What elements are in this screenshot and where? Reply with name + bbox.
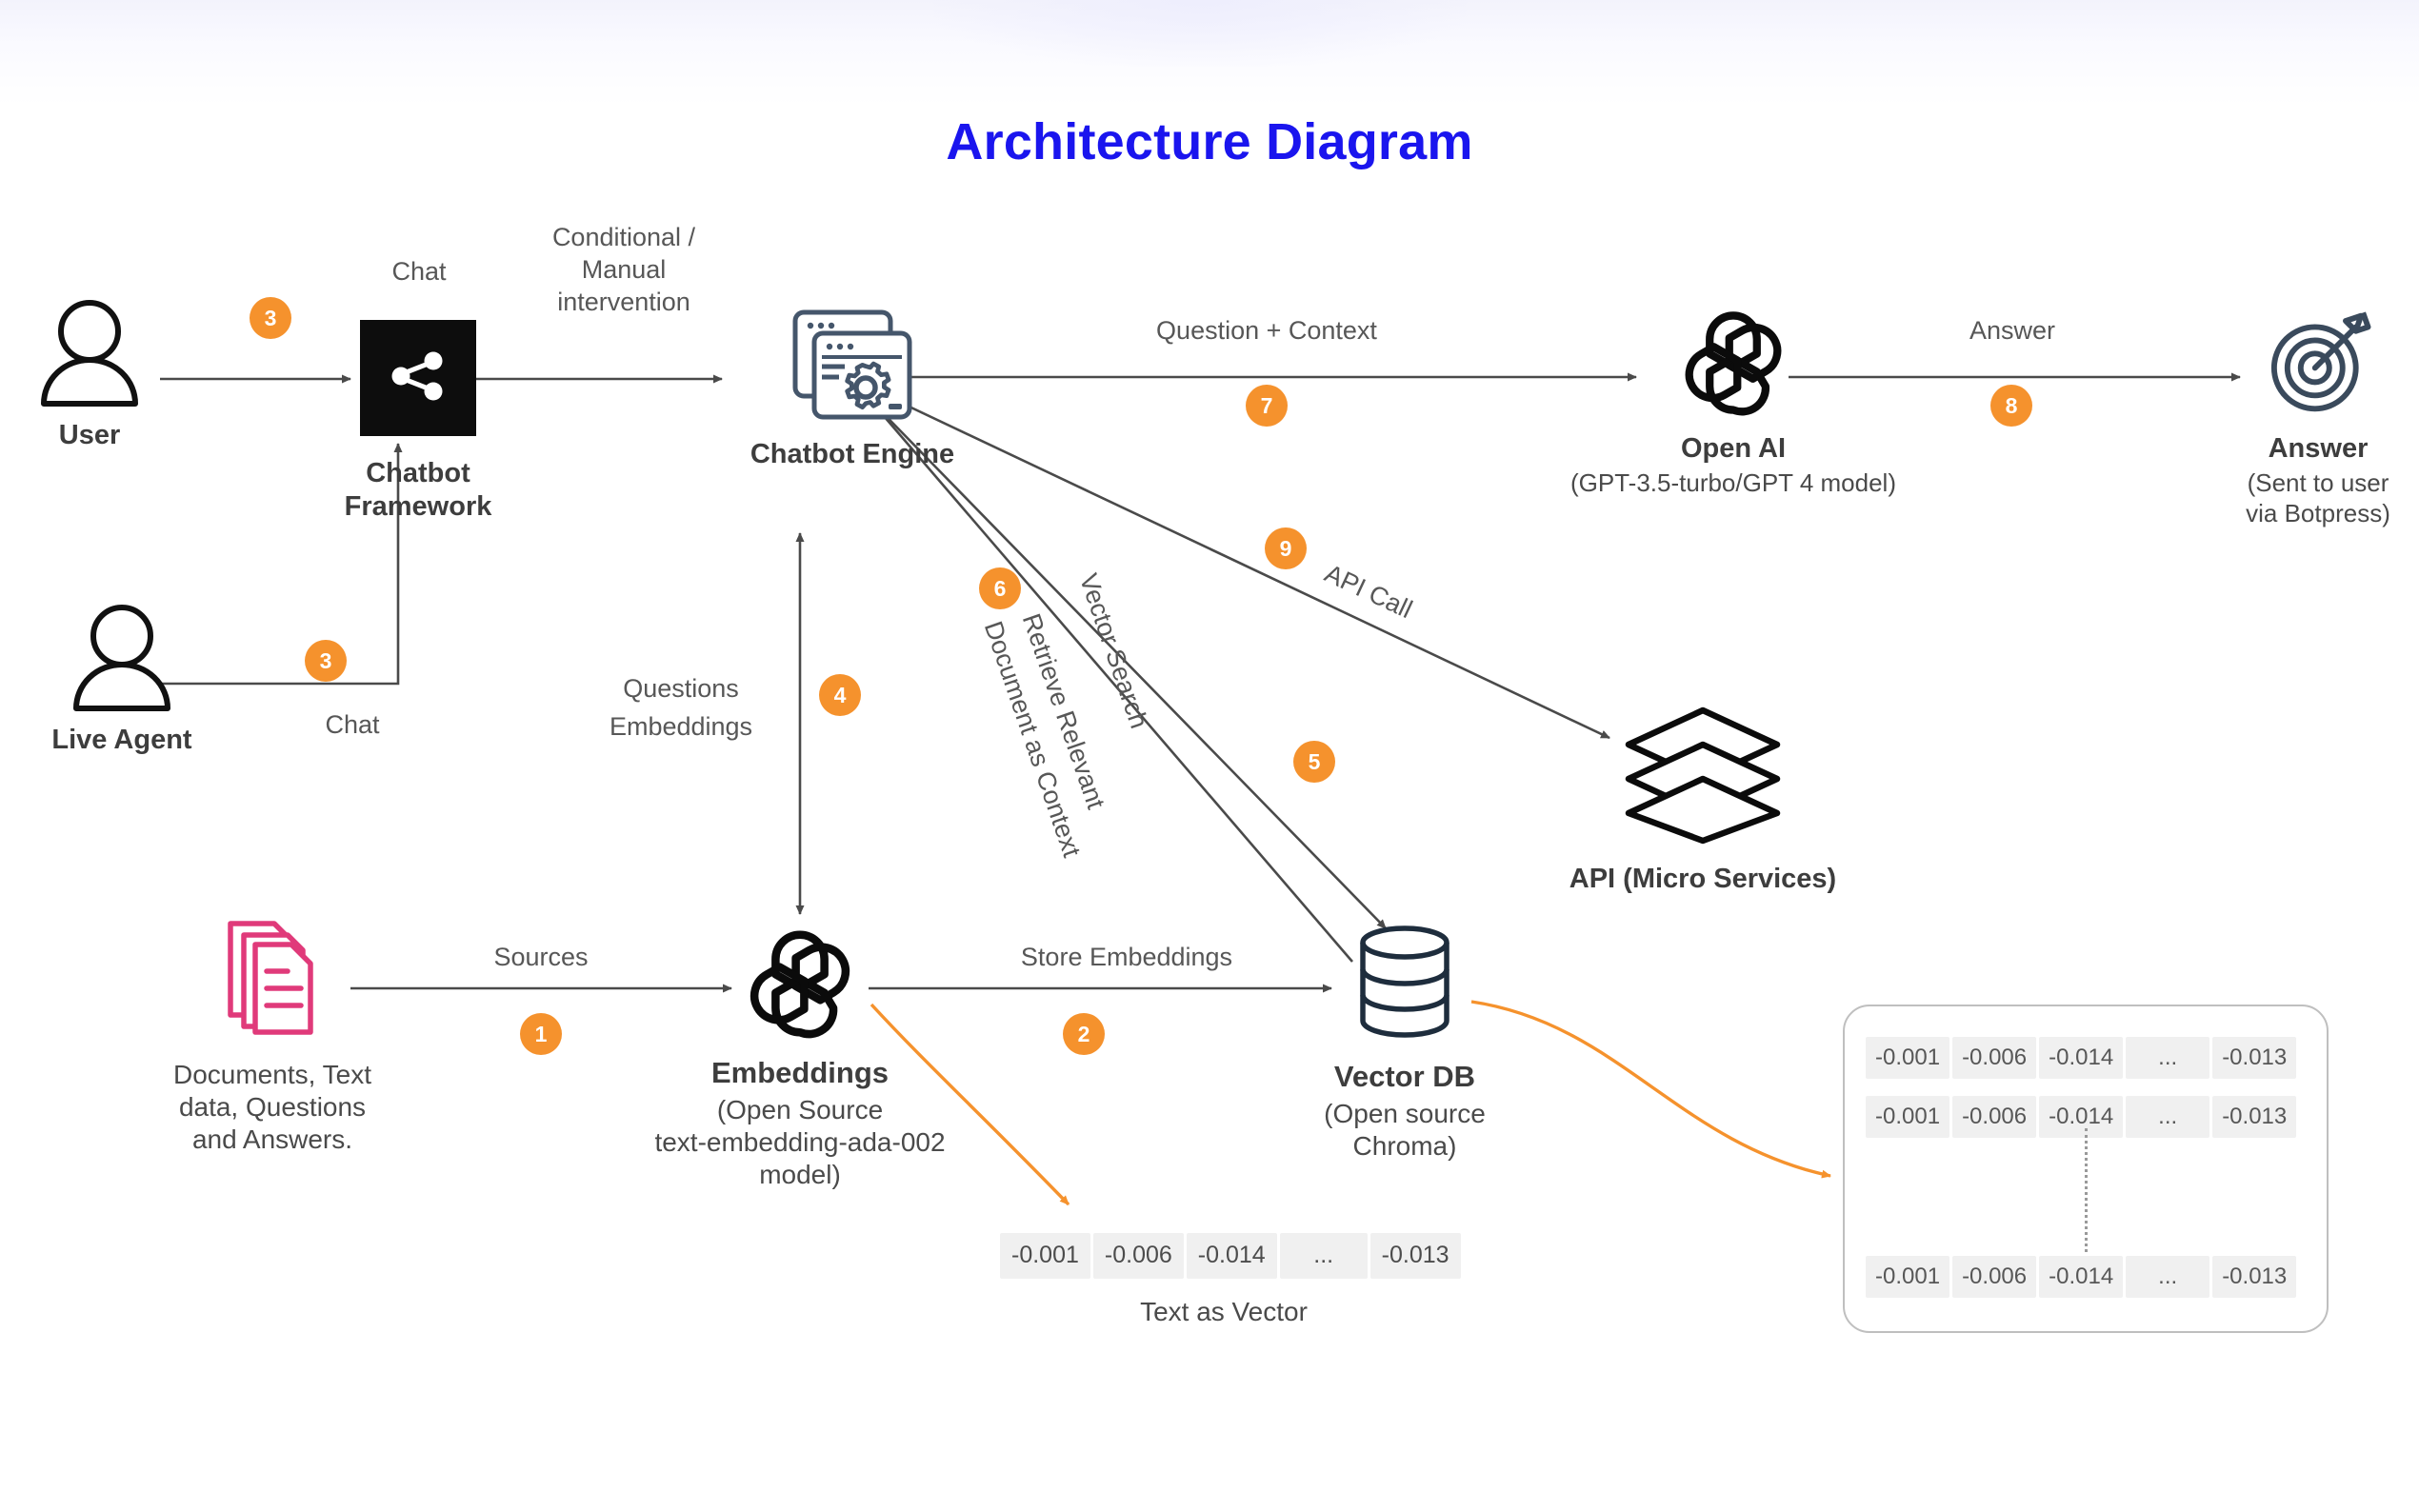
- window-gear-icon: [705, 307, 1000, 423]
- node-user-label: User: [19, 419, 160, 452]
- matrix-row: -0.001 -0.006 -0.014 ... -0.013: [1866, 1037, 2296, 1079]
- vector-matrix-card: -0.001 -0.006 -0.014 ... -0.013 -0.001 -…: [1843, 1005, 2329, 1333]
- step-badge-1: 1: [520, 1013, 562, 1055]
- node-chatbot-framework-tile[interactable]: [360, 320, 476, 436]
- step-badge-7: 7: [1246, 385, 1288, 427]
- edge-label-sources: Sources: [446, 941, 636, 973]
- node-open-ai-sublabel: (GPT-3.5-turbo/GPT 4 model): [1524, 468, 1943, 499]
- node-answer-sublabel-2: via Botpress): [2217, 499, 2419, 529]
- node-chatbot-engine-label: Chatbot Engine: [705, 438, 1000, 471]
- matrix-cell: -0.013: [2212, 1096, 2296, 1138]
- node-chatbot-engine[interactable]: Chatbot Engine: [705, 307, 1000, 471]
- matrix-cell: -0.013: [2212, 1256, 2296, 1298]
- node-open-ai[interactable]: Open AI (GPT-3.5-turbo/GPT 4 model): [1524, 307, 1943, 499]
- matrix-cell: -0.013: [2212, 1037, 2296, 1079]
- step-badge-4: 4: [819, 674, 861, 716]
- edge-label-questions-embeddings-1: Questions: [571, 672, 790, 705]
- user-icon: [19, 297, 160, 409]
- vector-cell: -0.001: [1000, 1233, 1090, 1279]
- node-embeddings-label: Embeddings: [629, 1055, 971, 1091]
- vector-cell: -0.014: [1187, 1233, 1277, 1279]
- matrix-cell-ellipsis: ...: [2126, 1037, 2209, 1079]
- step-badge-8: 8: [1990, 385, 2032, 427]
- node-chatbot-framework-label-2: Framework: [284, 490, 552, 524]
- node-live-agent-label: Live Agent: [19, 724, 225, 757]
- matrix-row: -0.001 -0.006 -0.014 ... -0.013: [1866, 1256, 2296, 1298]
- node-api-micro-services[interactable]: API (Micro Services): [1512, 701, 1893, 896]
- user-icon: [19, 602, 225, 714]
- matrix-row: -0.001 -0.006 -0.014 ... -0.013: [1866, 1096, 2296, 1138]
- edge-label-questions-embeddings-2: Embeddings: [571, 710, 790, 743]
- page-title: Architecture Diagram: [0, 112, 2419, 171]
- matrix-cell: -0.001: [1866, 1037, 1949, 1079]
- target-dart-icon: [2217, 307, 2419, 419]
- edge-label-api-call: API Call: [1320, 557, 1418, 626]
- matrix-cell: -0.014: [2039, 1256, 2123, 1298]
- text-as-vector-caption: Text as Vector: [1000, 1297, 1448, 1327]
- node-documents-label-2: data, Questions: [101, 1091, 444, 1124]
- node-open-ai-label: Open AI: [1524, 432, 1943, 466]
- node-answer-label: Answer: [2217, 432, 2419, 466]
- vector-cell-ellipsis: ...: [1280, 1233, 1368, 1279]
- edge-label-store-embeddings: Store Embeddings: [960, 941, 1293, 973]
- node-chatbot-framework-label-1: Chatbot: [284, 457, 552, 490]
- database-cylinder-icon: [1286, 922, 1524, 1045]
- node-documents[interactable]: Documents, Text data, Questions and Answ…: [101, 916, 444, 1156]
- openai-knot-icon: [1524, 307, 1943, 419]
- documents-stack-icon: [101, 916, 444, 1038]
- matrix-cell: -0.001: [1866, 1256, 1949, 1298]
- node-embeddings[interactable]: Embeddings (Open Source text-embedding-a…: [629, 925, 971, 1191]
- node-vector-db-label: Vector DB: [1286, 1059, 1524, 1095]
- matrix-cell-ellipsis: ...: [2126, 1256, 2209, 1298]
- matrix-cell: -0.006: [1952, 1096, 2036, 1138]
- share-network-icon: [385, 343, 451, 414]
- node-live-agent[interactable]: Live Agent: [19, 602, 225, 757]
- matrix-cell: -0.006: [1952, 1037, 2036, 1079]
- node-embeddings-sublabel-1: (Open Source: [629, 1094, 971, 1126]
- step-badge-2: 2: [1063, 1013, 1105, 1055]
- node-embeddings-sublabel-3: model): [629, 1159, 971, 1191]
- node-chatbot-framework[interactable]: Chatbot Framework: [284, 444, 552, 525]
- node-answer[interactable]: Answer (Sent to user via Botpress): [2217, 307, 2419, 529]
- node-user[interactable]: User: [19, 297, 160, 452]
- edge-label-live-agent-chat: Chat: [286, 708, 419, 741]
- edge-label-user-chat: Chat: [352, 255, 486, 288]
- node-vector-db-sublabel-2: Chroma): [1286, 1130, 1524, 1163]
- step-badge-6: 6: [979, 567, 1021, 609]
- step-badge-5: 5: [1293, 741, 1335, 783]
- matrix-cell: -0.014: [2039, 1096, 2123, 1138]
- edge-label-conditional-manual-intervention: Conditional / Manual intervention: [505, 221, 743, 318]
- matrix-cell: -0.006: [1952, 1256, 2036, 1298]
- step-badge-3-live-agent: 3: [305, 640, 347, 682]
- vector-cell: -0.006: [1093, 1233, 1184, 1279]
- background-tint: [933, 0, 1467, 67]
- matrix-cell: -0.014: [2039, 1037, 2123, 1079]
- vector-cell: -0.013: [1370, 1233, 1461, 1279]
- edge-label-question-context: Question + Context: [1086, 314, 1448, 347]
- matrix-cell-ellipsis: ...: [2126, 1096, 2209, 1138]
- text-as-vector-row: -0.001 -0.006 -0.014 ... -0.013: [1000, 1233, 1461, 1279]
- node-documents-label-3: and Answers.: [101, 1124, 444, 1156]
- node-vector-db[interactable]: Vector DB (Open source Chroma): [1286, 922, 1524, 1163]
- openai-knot-icon: [629, 925, 971, 1042]
- node-api-micro-services-label: API (Micro Services): [1512, 863, 1893, 896]
- matrix-cell: -0.001: [1866, 1096, 1949, 1138]
- edge-label-answer: Answer: [1903, 314, 2122, 347]
- step-badge-3-user: 3: [250, 297, 291, 339]
- architecture-diagram-canvas: Architecture Diagram: [0, 0, 2419, 1512]
- node-documents-label-1: Documents, Text: [101, 1059, 444, 1091]
- step-badge-9: 9: [1265, 527, 1307, 569]
- layers-stack-icon: [1512, 701, 1893, 846]
- edge-label-vector-search: Vector Search: [1072, 569, 1155, 732]
- node-answer-sublabel-1: (Sent to user: [2217, 468, 2419, 499]
- node-vector-db-sublabel-1: (Open source: [1286, 1098, 1524, 1130]
- node-embeddings-sublabel-2: text-embedding-ada-002: [629, 1126, 971, 1159]
- matrix-vertical-ellipsis: [2085, 1128, 2088, 1252]
